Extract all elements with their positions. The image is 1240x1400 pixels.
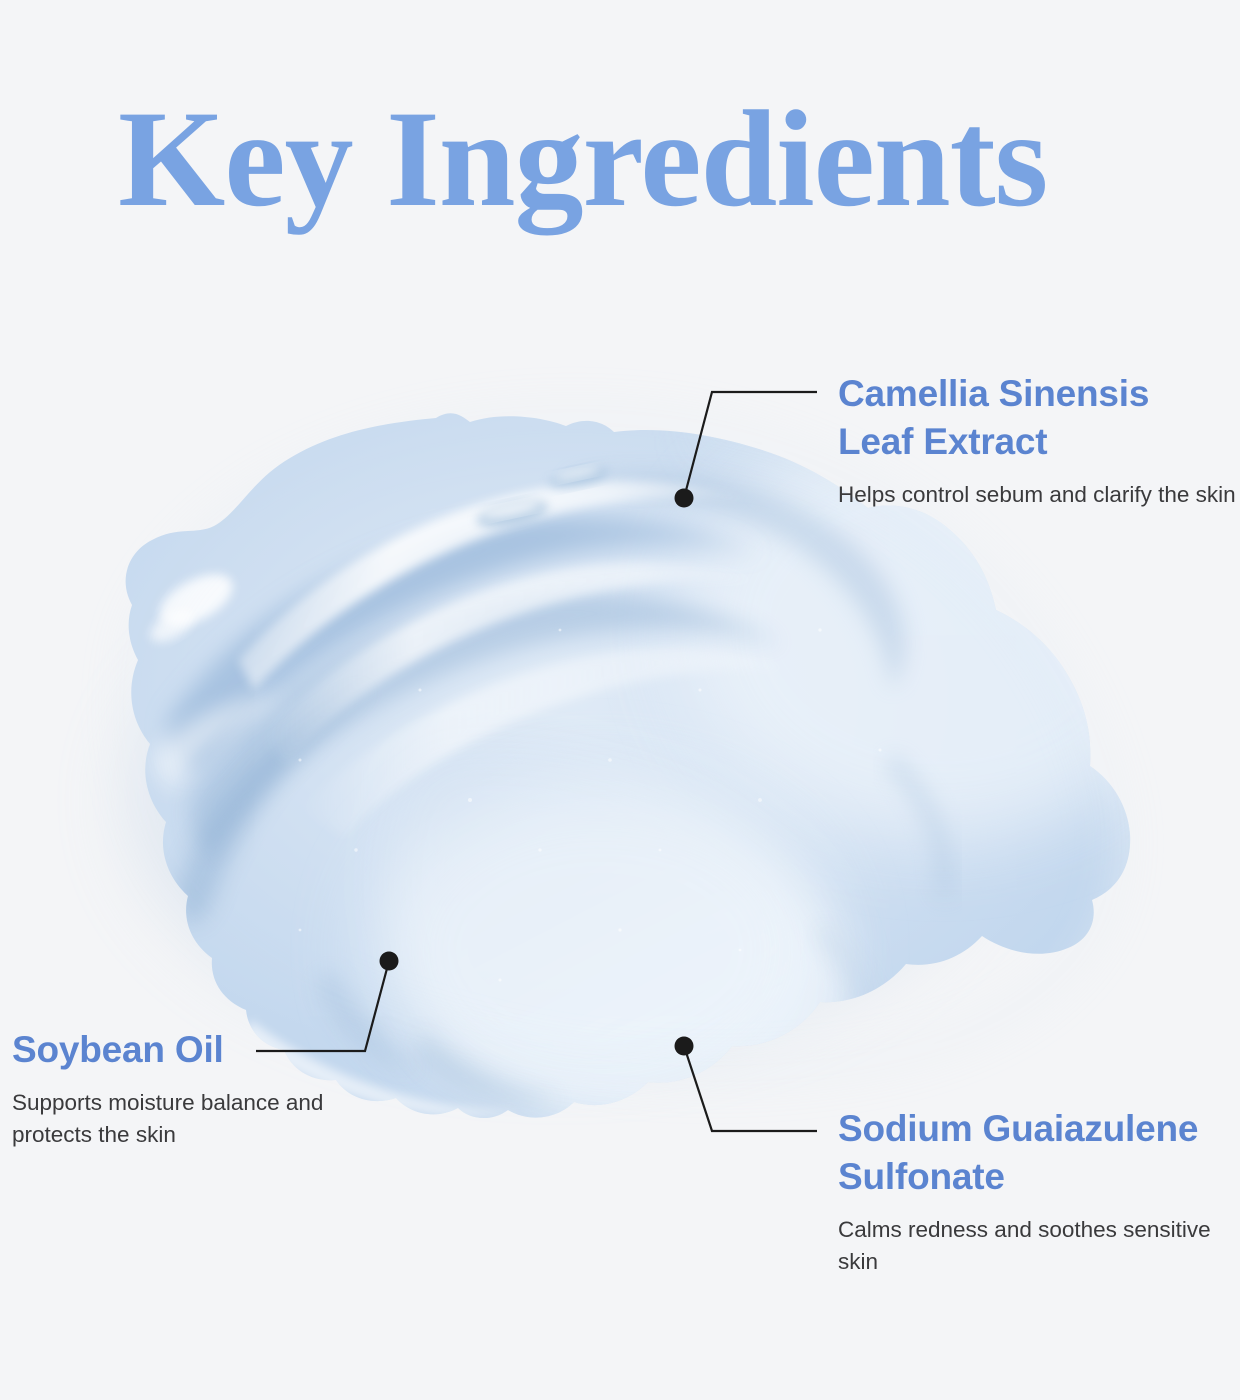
callout-heading-sodium-line1: Sodium Guaiazulene: [838, 1108, 1198, 1149]
marker-dot-soybean: [380, 952, 399, 971]
callout-heading-sodium: Sodium Guaiazulene Sulfonate: [838, 1105, 1240, 1201]
callout-sodium-guaiazulene-sulfonate: Sodium Guaiazulene Sulfonate Calms redne…: [838, 1105, 1240, 1278]
marker-dot-sodium: [675, 1037, 694, 1056]
marker-dot-camellia: [675, 489, 694, 508]
leader-camellia: [675, 392, 818, 508]
callout-heading-camellia-line1: Camellia Sinensis: [838, 373, 1149, 414]
callout-description-camellia: Helps control sebum and clarify the skin: [838, 466, 1238, 511]
ingredients-infographic: Key Ingredients: [0, 0, 1240, 1400]
callout-heading-sodium-line2: Sulfonate: [838, 1156, 1005, 1197]
callout-heading-camellia: Camellia Sinensis Leaf Extract: [838, 370, 1238, 466]
callout-description-sodium: Calms redness and soothes sensitive skin: [838, 1201, 1240, 1278]
callout-heading-camellia-line2: Leaf Extract: [838, 421, 1047, 462]
callout-soybean-oil: Soybean Oil Supports moisture balance an…: [12, 1026, 382, 1151]
callout-description-soybean: Supports moisture balance and protects t…: [12, 1074, 382, 1151]
callout-heading-soybean: Soybean Oil: [12, 1026, 382, 1074]
leader-sodium: [675, 1037, 818, 1132]
callout-camellia-sinensis: Camellia Sinensis Leaf Extract Helps con…: [838, 370, 1238, 511]
callout-heading-soybean-line1: Soybean Oil: [12, 1029, 224, 1070]
